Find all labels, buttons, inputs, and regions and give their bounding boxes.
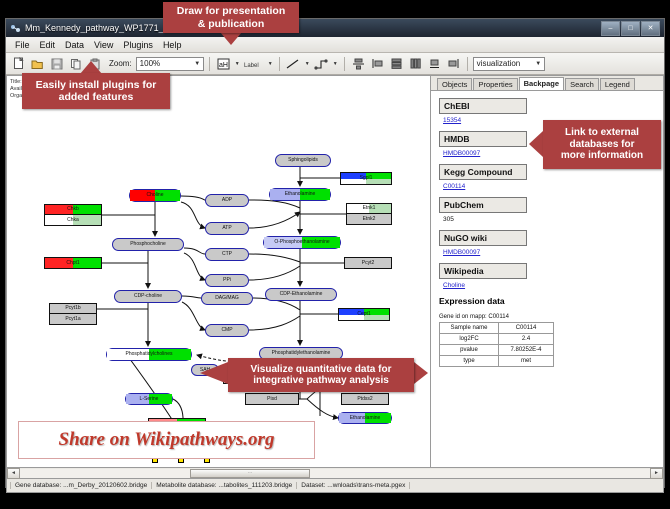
text-format-icon[interactable]: aH bbox=[215, 55, 232, 72]
toolbar-separator-3 bbox=[344, 57, 345, 71]
db-header-chebi: ChEBI bbox=[439, 98, 527, 114]
side-tabs: Objects Properties Backpage Search Legen… bbox=[431, 76, 663, 91]
menu-plugins[interactable]: Plugins bbox=[118, 39, 158, 51]
align-bottom-icon[interactable] bbox=[426, 55, 443, 72]
line-icon[interactable] bbox=[285, 55, 302, 72]
table-row: log2FC 2.4 bbox=[440, 334, 554, 345]
gene-pisd[interactable]: Pisd bbox=[245, 393, 299, 405]
node-label: ATP bbox=[222, 226, 231, 231]
gene-chkb[interactable]: Chkb bbox=[44, 204, 102, 215]
node-label: PPi bbox=[223, 278, 231, 283]
toolbar-separator-2 bbox=[279, 57, 280, 71]
menu-view[interactable]: View bbox=[89, 39, 118, 51]
toolbar-separator-4 bbox=[467, 57, 468, 71]
label-icon[interactable]: Label bbox=[243, 55, 265, 72]
db-header-hmdb: HMDB bbox=[439, 131, 527, 147]
node-label: CMP bbox=[221, 328, 232, 333]
node-label: CDP-choline bbox=[134, 294, 162, 299]
status-metabolite-database: Metabolite database: ...tabolites_111203… bbox=[152, 482, 297, 489]
node-ppi[interactable]: PPi bbox=[205, 274, 249, 287]
gene-label: Ptdss2 bbox=[357, 397, 372, 402]
gene-pcyt2[interactable]: Pcyt2 bbox=[344, 257, 392, 269]
cell-value: C00114 bbox=[499, 323, 554, 334]
gene-label: Pcyt1b bbox=[65, 306, 80, 311]
gene-chpt1[interactable]: Chpt1 bbox=[44, 257, 102, 269]
node-ethanolamine-right[interactable]: Ethanolamine bbox=[338, 412, 392, 424]
horizontal-scrollbar[interactable]: ◄ ⋯ ► bbox=[6, 468, 664, 479]
gene-label: Sgpl1 bbox=[360, 176, 373, 181]
gene-label: Chkb bbox=[67, 207, 79, 212]
gene-pcyt1a[interactable]: Pcyt1a bbox=[49, 314, 97, 325]
zoom-label: Zoom: bbox=[109, 59, 132, 68]
gene-ptdss2[interactable]: Ptdss2 bbox=[341, 393, 389, 405]
node-label: ADP bbox=[222, 198, 232, 203]
gene-sgpl1[interactable]: Sgpl1 bbox=[340, 172, 392, 185]
gene-label: Chpt1 bbox=[66, 261, 79, 266]
scroll-track[interactable]: ⋯ bbox=[20, 469, 650, 478]
open-folder-icon[interactable] bbox=[29, 55, 46, 72]
gene-label: Pisd bbox=[267, 397, 277, 402]
line-chevron-icon[interactable]: ▼ bbox=[304, 61, 311, 67]
zoom-value: 100% bbox=[140, 59, 160, 68]
callout-draw-arrow-icon bbox=[220, 32, 242, 45]
visualization-combobox[interactable]: visualization ▼ bbox=[473, 57, 545, 71]
node-label: Phosphocholine bbox=[130, 242, 166, 247]
svg-text:aH: aH bbox=[219, 62, 228, 69]
db-value-pubchem: 305 bbox=[443, 216, 655, 223]
db-header-pubchem: PubChem bbox=[439, 197, 527, 213]
node-sphingolipids[interactable]: Sphingolipids bbox=[275, 154, 331, 167]
node-atp[interactable]: ATP bbox=[205, 222, 249, 235]
cell-value: met bbox=[499, 356, 554, 367]
connector-icon[interactable] bbox=[313, 55, 330, 72]
window-title-bar: Mm_Kennedy_pathway_WP1771_45176.gpml – □… bbox=[6, 19, 664, 37]
svg-text:Label: Label bbox=[244, 63, 259, 69]
node-label: Ethanolamine bbox=[285, 192, 316, 197]
node-phosphatidylcholines[interactable]: Phosphatidylcholines bbox=[106, 348, 192, 361]
node-cdp-ethanolamine[interactable]: CDP-Ethanolamine bbox=[265, 288, 337, 301]
window-controls: – □ ✕ bbox=[601, 21, 660, 36]
share-banner: Share on Wikipathways.org bbox=[18, 421, 315, 459]
text-format-chevron-icon[interactable]: ▼ bbox=[234, 61, 241, 67]
zoom-combobox[interactable]: 100% ▼ bbox=[136, 57, 204, 71]
node-label: Choline bbox=[147, 193, 164, 198]
chevron-down-icon: ▼ bbox=[192, 58, 203, 70]
new-file-icon[interactable] bbox=[10, 55, 27, 72]
table-row: pvalue 7.80252E-4 bbox=[440, 345, 554, 356]
align-left-icon[interactable] bbox=[369, 55, 386, 72]
node-label: Ethanolamine bbox=[350, 416, 381, 421]
align-right-icon[interactable] bbox=[445, 55, 462, 72]
stack-vertical-icon[interactable] bbox=[388, 55, 405, 72]
cell-key: pvalue bbox=[440, 345, 499, 356]
status-bar: Gene database: ...m_Derby_20120602.bridg… bbox=[6, 479, 664, 493]
status-dataset: Dataset: ...wnloads\trans-meta.pgex bbox=[297, 482, 410, 489]
node-adp[interactable]: ADP bbox=[205, 194, 249, 207]
menu-data[interactable]: Data bbox=[60, 39, 89, 51]
db-link-nugo[interactable]: HMDB00097 bbox=[443, 249, 655, 256]
expression-data-heading: Expression data bbox=[439, 296, 655, 306]
scroll-thumb[interactable]: ⋯ bbox=[190, 469, 310, 478]
toolbar: Zoom: 100% ▼ aH ▼ Label ▼ ▼ ▼ bbox=[6, 53, 664, 75]
scroll-left-icon[interactable]: ◄ bbox=[7, 468, 20, 479]
maximize-button[interactable]: □ bbox=[621, 21, 640, 36]
menu-help[interactable]: Help bbox=[158, 39, 187, 51]
gene-label: Pcyt2 bbox=[362, 261, 375, 266]
table-row: Sample name C00114 bbox=[440, 323, 554, 334]
toolbar-separator bbox=[209, 57, 210, 71]
node-label: CDP-Ethanolamine bbox=[280, 292, 323, 297]
expression-table: Sample name C00114 log2FC 2.4 pvalue 7.8… bbox=[439, 322, 554, 367]
cell-key: log2FC bbox=[440, 334, 499, 345]
status-gene-database: Gene database: ...m_Derby_20120602.bridg… bbox=[10, 482, 152, 489]
scroll-right-icon[interactable]: ► bbox=[650, 468, 663, 479]
gene-pcyt1b[interactable]: Pcyt1b bbox=[49, 303, 97, 314]
tab-backpage[interactable]: Backpage bbox=[519, 77, 564, 90]
tab-legend[interactable]: Legend bbox=[600, 78, 635, 90]
save-icon[interactable] bbox=[48, 55, 65, 72]
db-link-kegg[interactable]: C00114 bbox=[443, 183, 655, 190]
node-ctp[interactable]: CTP bbox=[205, 248, 249, 261]
tab-search[interactable]: Search bbox=[565, 78, 599, 90]
node-ethanolamine[interactable]: Ethanolamine bbox=[269, 188, 331, 201]
menu-file[interactable]: File bbox=[10, 39, 35, 51]
node-label: DAG/MAG bbox=[215, 296, 239, 301]
db-link-wikipedia[interactable]: Choline bbox=[443, 282, 655, 289]
node-label: L-Serine bbox=[140, 397, 159, 402]
callout-link-arrow-icon bbox=[529, 131, 543, 157]
menu-bar: File Edit Data View Plugins Help bbox=[6, 37, 664, 53]
share-banner-text: Share on Wikipathways.org bbox=[59, 429, 275, 451]
callout-visualize-quantitative-data: Visualize quantitative data for integrat… bbox=[228, 358, 414, 392]
gene-chka[interactable]: Chka bbox=[44, 215, 102, 226]
db-header-nugo: NuGO wiki bbox=[439, 230, 527, 246]
gene-label: Etnk2 bbox=[363, 217, 376, 222]
pathway-edges bbox=[7, 76, 431, 468]
callout-easily-install-plugins: Easily install plugins for added feature… bbox=[22, 73, 170, 109]
gene-etnk1[interactable]: Etnk1 bbox=[346, 203, 392, 214]
node-cdp-choline[interactable]: CDP-choline bbox=[114, 290, 182, 303]
menu-edit[interactable]: Edit bbox=[35, 39, 61, 51]
node-label: CTP bbox=[222, 252, 232, 257]
gene-label: Cept1 bbox=[357, 312, 370, 317]
db-header-kegg: Kegg Compound bbox=[439, 164, 527, 180]
chevron-down-icon-2: ▼ bbox=[533, 58, 544, 70]
node-choline-top[interactable]: Choline bbox=[129, 189, 181, 202]
node-dag-mag[interactable]: DAG/MAG bbox=[201, 292, 253, 305]
minimize-button[interactable]: – bbox=[601, 21, 620, 36]
callout-link-to-external-databases: Link to external databases for more info… bbox=[543, 120, 661, 169]
connector-chevron-icon[interactable]: ▼ bbox=[332, 61, 339, 67]
callout-visualize-arrow-right-icon bbox=[414, 362, 428, 384]
pathvisio-icon bbox=[10, 23, 21, 34]
node-label: Phosphatidylcholines bbox=[126, 352, 173, 357]
gene-label: Etnk1 bbox=[363, 206, 376, 211]
cell-value: 2.4 bbox=[499, 334, 554, 345]
tab-properties[interactable]: Properties bbox=[473, 78, 517, 90]
node-label: Sphingolipids bbox=[288, 158, 318, 163]
visualization-value: visualization bbox=[477, 59, 521, 68]
db-header-wikipedia: Wikipedia bbox=[439, 263, 527, 279]
node-o-phosphoethanolamine[interactable]: O-Phosphoethanolamine bbox=[263, 236, 341, 249]
label-chevron-icon[interactable]: ▼ bbox=[267, 61, 274, 67]
tab-objects[interactable]: Objects bbox=[437, 78, 472, 90]
node-label: Phosphatidylethanolamine bbox=[272, 351, 331, 356]
gene-label: Chka bbox=[67, 218, 79, 223]
node-l-serine-left[interactable]: L-Serine bbox=[125, 393, 173, 405]
distribute-icon[interactable] bbox=[407, 55, 424, 72]
gene-etnk2[interactable]: Etnk2 bbox=[346, 214, 392, 225]
node-cmp[interactable]: CMP bbox=[205, 324, 249, 337]
callout-draw-for-presentation: Draw for presentation & publication bbox=[163, 2, 299, 33]
gene-cept1[interactable]: Cept1 bbox=[338, 308, 390, 321]
gene-id-on-mapp: Gene id on mapp: C00114 bbox=[439, 314, 655, 320]
cell-key: Sample name bbox=[440, 323, 499, 334]
node-label: O-Phosphoethanolamine bbox=[274, 240, 329, 245]
cell-key: type bbox=[440, 356, 499, 367]
pathway-canvas[interactable]: Title: Availa Organ bbox=[6, 75, 431, 468]
gene-label: Pcyt1a bbox=[65, 317, 80, 322]
node-phosphocholine[interactable]: Phosphocholine bbox=[112, 238, 184, 251]
close-button[interactable]: ✕ bbox=[641, 21, 660, 36]
cell-value: 7.80252E-4 bbox=[499, 345, 554, 356]
table-row: type met bbox=[440, 356, 554, 367]
callout-visualize-arrow-icon bbox=[200, 362, 228, 384]
align-center-icon[interactable] bbox=[350, 55, 367, 72]
